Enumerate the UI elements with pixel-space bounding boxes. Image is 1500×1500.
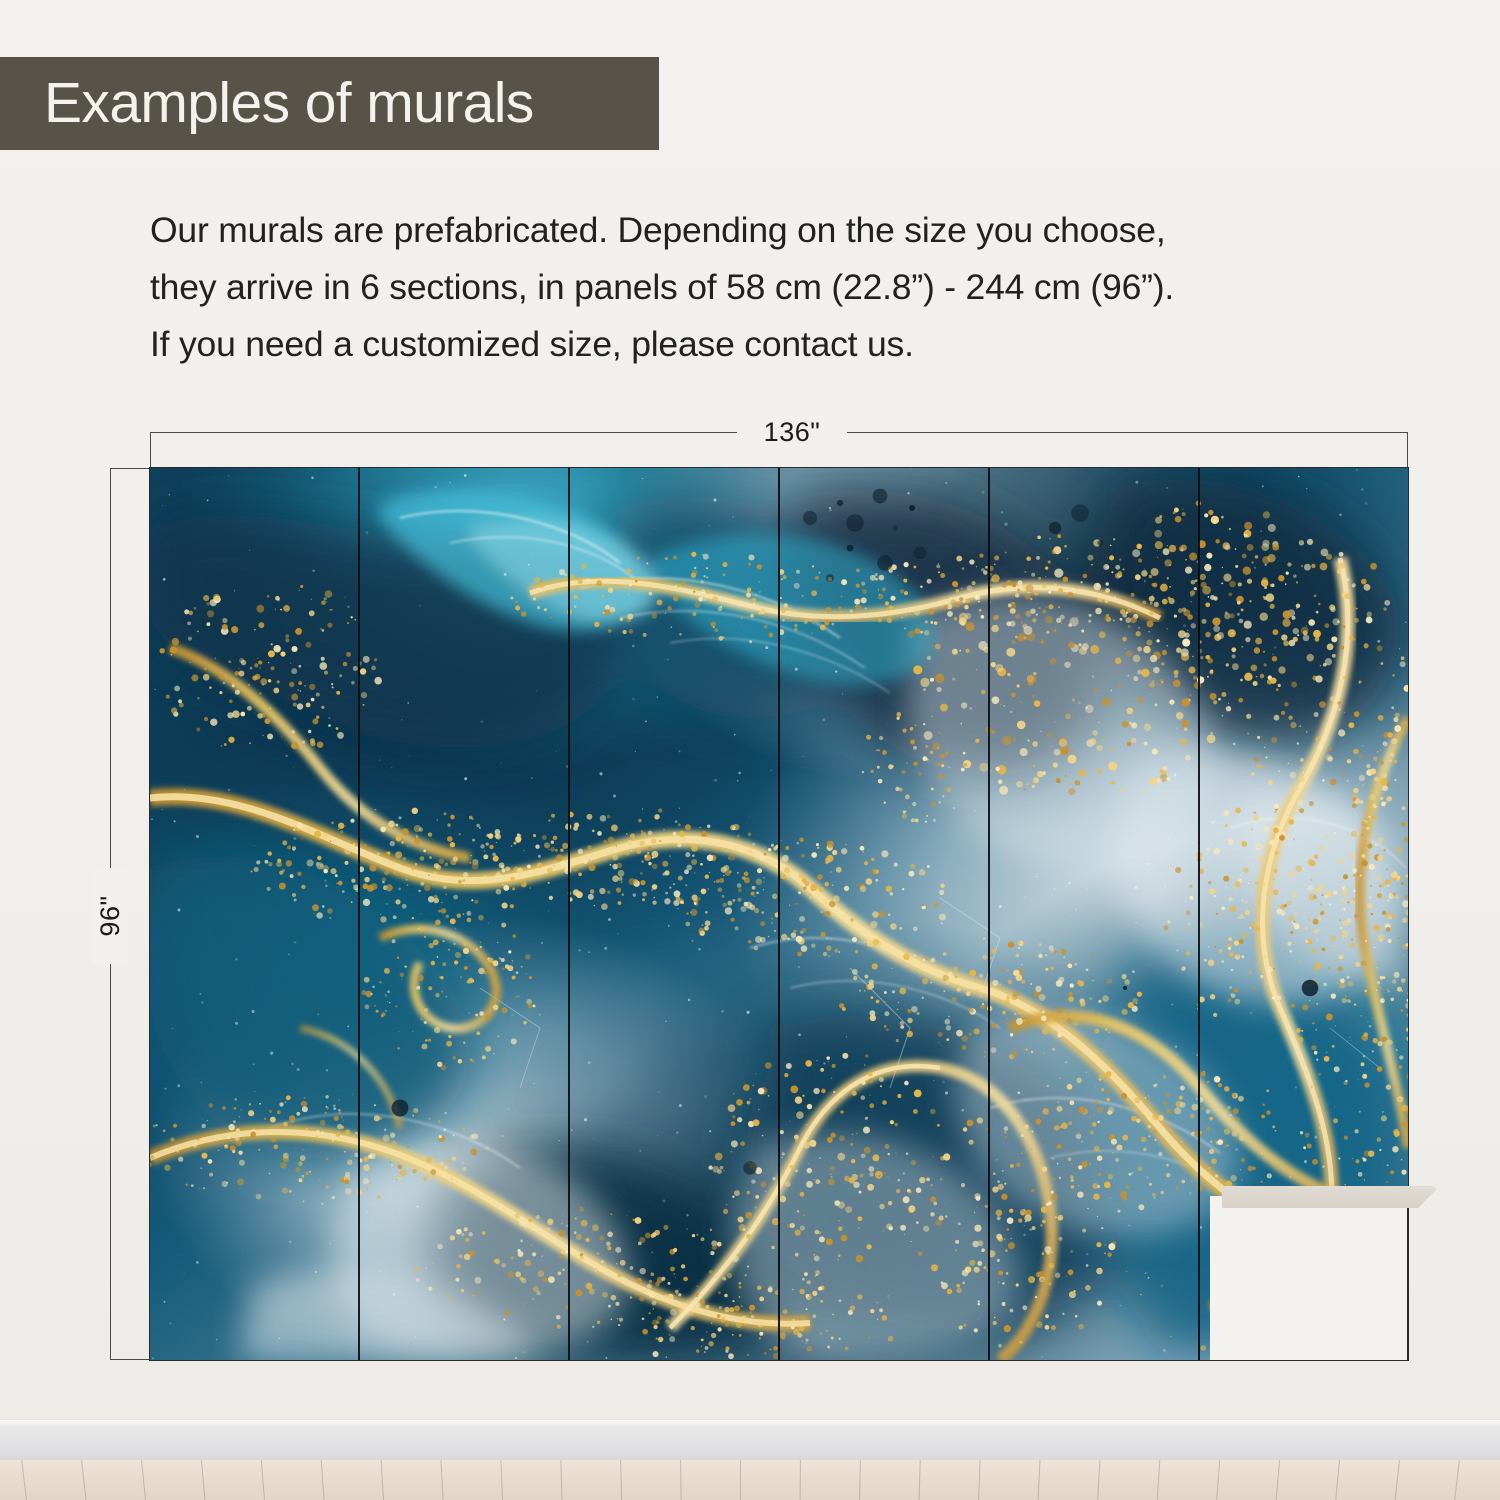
panel-seam-2: [568, 468, 570, 1360]
baseboard: [0, 1419, 1500, 1463]
header-banner: Examples of murals: [0, 57, 659, 150]
description-line-1: Our murals are prefabricated. Depending …: [150, 202, 1380, 259]
panel-seam-5: [1198, 468, 1200, 1360]
wood-floor: [0, 1460, 1500, 1500]
description-line-3: If you need a customized size, please co…: [150, 316, 1380, 373]
width-dimension-tick-left: [150, 432, 151, 470]
furniture-cabinet: [1210, 1196, 1408, 1360]
furniture-shelf-top: [1222, 1186, 1440, 1208]
panel-seam-1: [358, 468, 360, 1360]
width-dimension-label: 136": [737, 414, 847, 450]
page-title: Examples of murals: [0, 75, 534, 132]
description-line-2: they arrive in 6 sections, in panels of …: [150, 259, 1380, 316]
panel-seam-3: [778, 468, 780, 1360]
height-dimension-tick-bottom: [110, 1359, 151, 1360]
panel-seam-4: [988, 468, 990, 1360]
height-dimension-tick-top: [110, 468, 151, 469]
floor-shading: [0, 1460, 1500, 1500]
room-scene: Examples of murals Our murals are prefab…: [0, 0, 1500, 1500]
width-dimension-tick-right: [1407, 432, 1408, 470]
description-text: Our murals are prefabricated. Depending …: [150, 202, 1380, 373]
floor-plank: [740, 1460, 741, 1500]
height-dimension-label: 96": [62, 898, 158, 934]
